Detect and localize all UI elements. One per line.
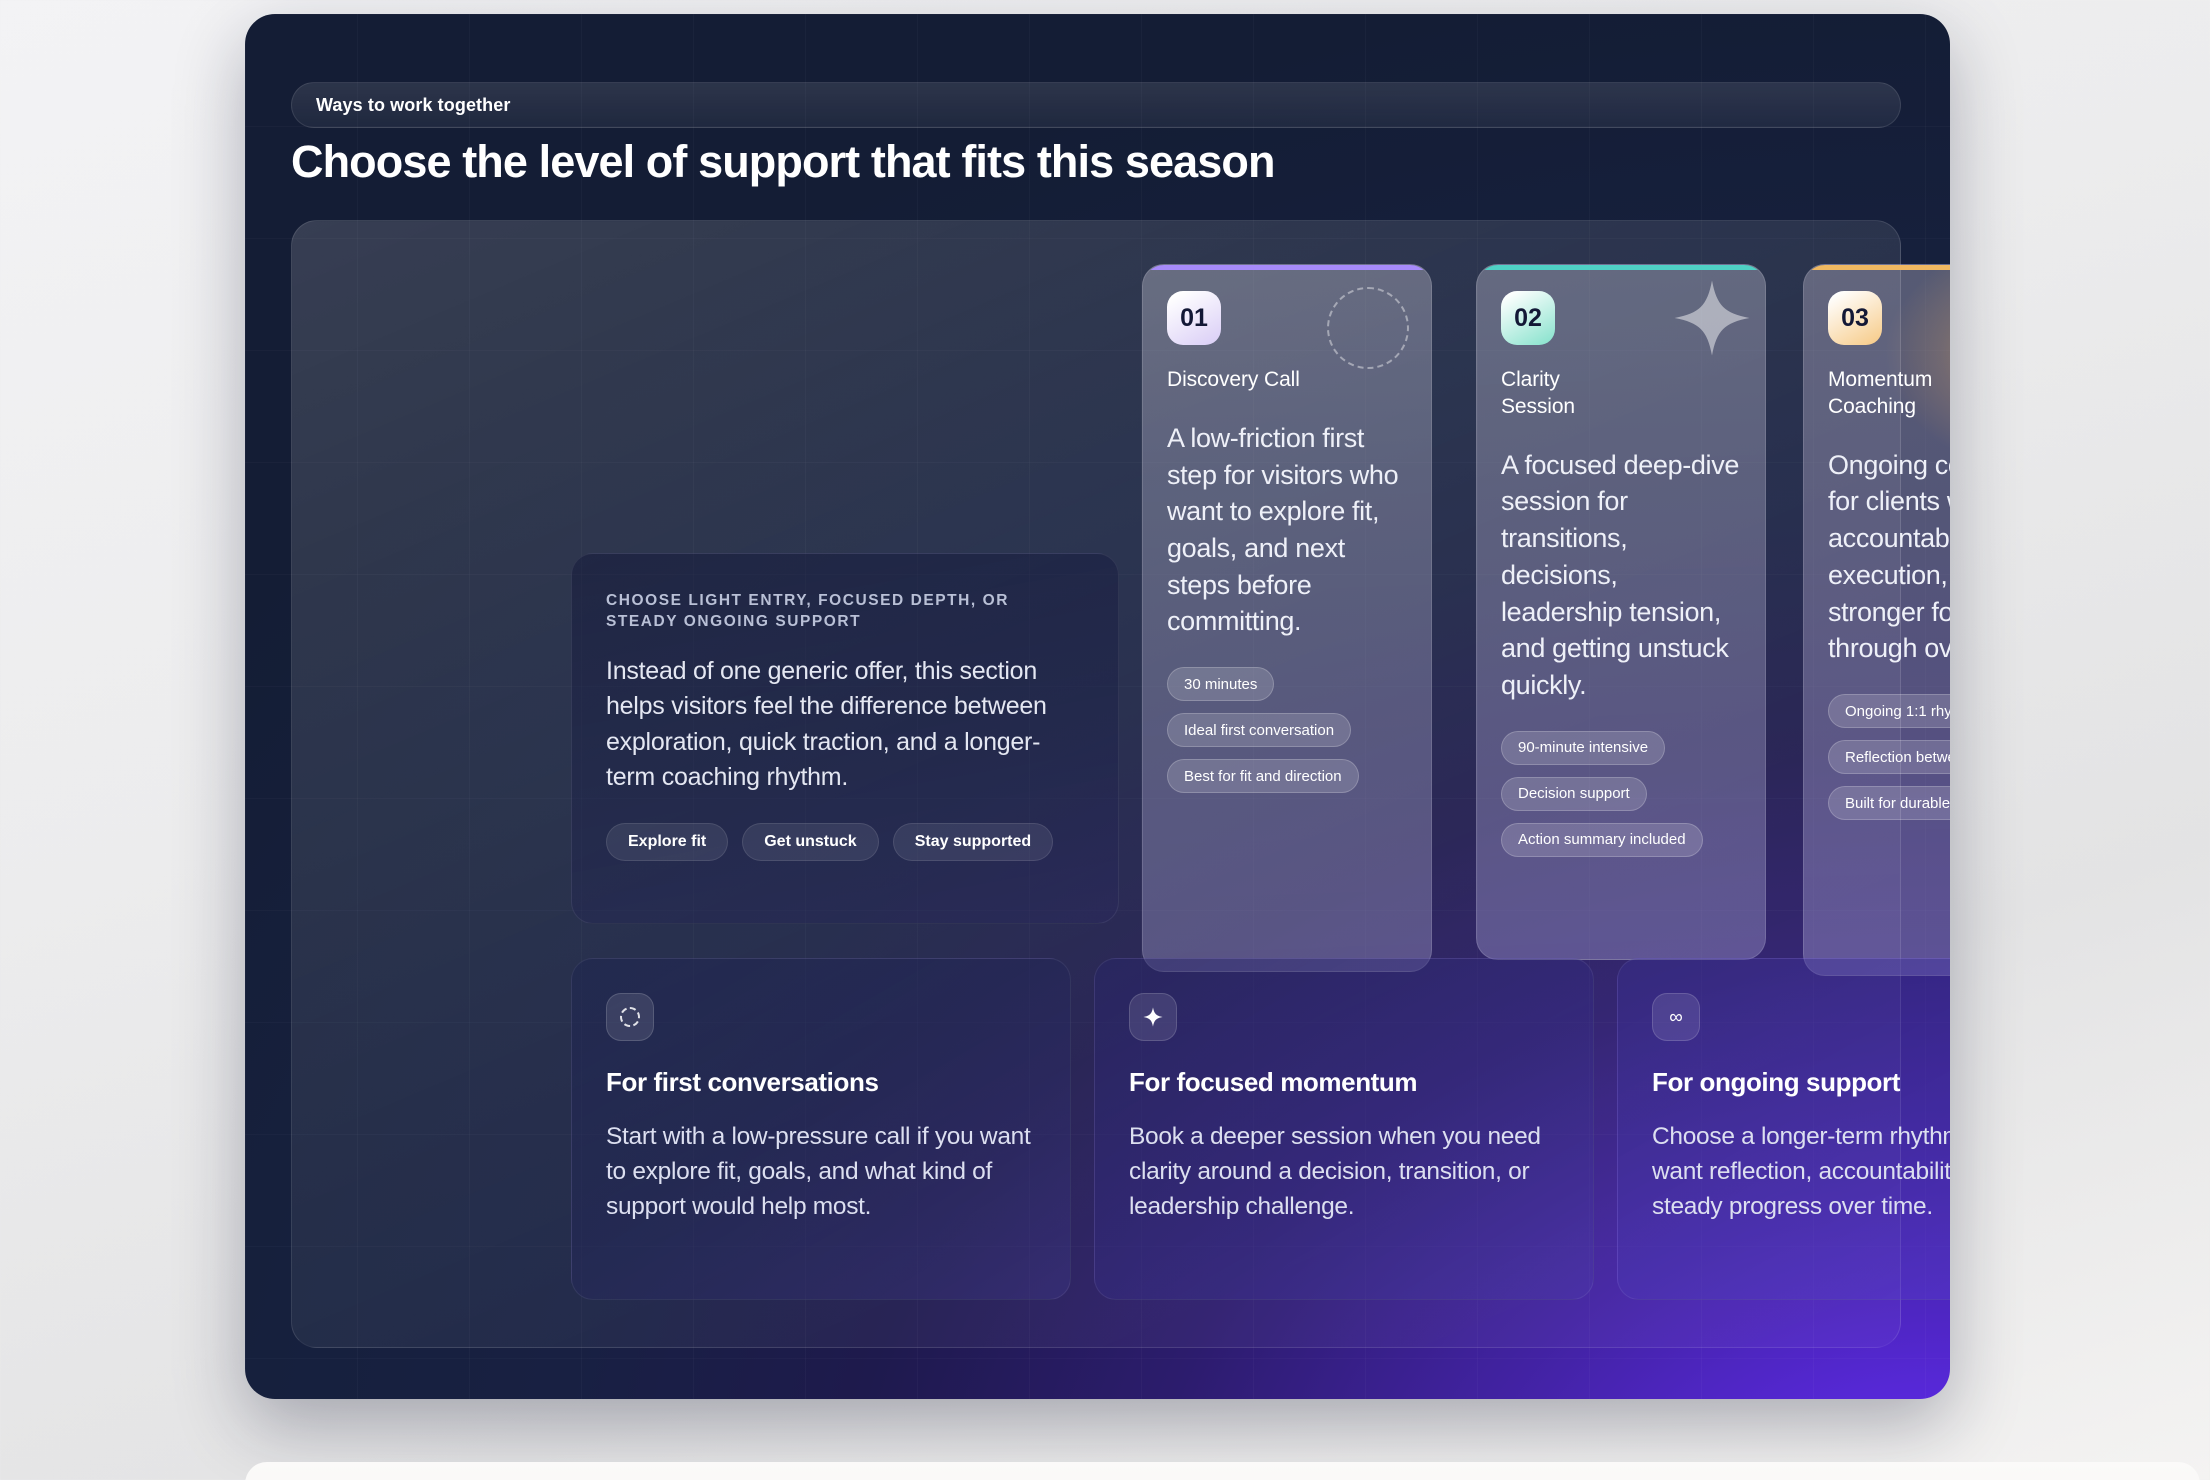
tier-card-momentum-coaching[interactable]: ∞ 03 Momentum Coaching Ongoing coaching … (1803, 264, 1950, 976)
tier-name: Discovery Call (1167, 367, 1407, 394)
tier-chip-group: Ongoing 1:1 rhythm Reflection between se… (1828, 694, 1950, 820)
tier-card-clarity-session[interactable]: 02 Clarity Session A focused deep-dive s… (1476, 264, 1766, 960)
tier-accent-bar (1804, 265, 1950, 270)
tier-chip[interactable]: Ongoing 1:1 rhythm (1828, 694, 1950, 728)
tier-chip-group: 30 minutes Ideal first conversation Best… (1167, 667, 1407, 793)
tier-number-badge: 01 (1167, 291, 1221, 345)
tier-chip[interactable]: Action summary included (1501, 823, 1703, 857)
tier-chip[interactable]: 90-minute intensive (1501, 731, 1665, 765)
tier-description: A low-friction first step for visitors w… (1167, 420, 1407, 640)
tier-accent-bar (1477, 265, 1765, 270)
intro-body: Instead of one generic offer, this secti… (606, 654, 1066, 796)
infinity-icon: ∞ (1669, 1008, 1683, 1027)
guidance-body: Book a deeper session when you need clar… (1129, 1120, 1559, 1224)
tier-chip[interactable]: Reflection between sessions (1828, 740, 1950, 774)
guidance-icon-tile: ∞ (1652, 993, 1700, 1041)
guidance-card-first-conversations: For first conversations Start with a low… (571, 958, 1071, 1300)
tier-description: A focused deep-dive session for transiti… (1501, 447, 1741, 704)
tier-name: Momentum Coaching (1828, 367, 1950, 421)
tier-chip[interactable]: Decision support (1501, 777, 1647, 811)
dashed-circle-icon (620, 1007, 640, 1027)
guidance-body: Choose a longer-term rhythm if you want … (1652, 1120, 1950, 1224)
tier-chip-group: 90-minute intensive Decision support Act… (1501, 731, 1741, 857)
dashed-circle-icon (1327, 287, 1409, 369)
tier-chip[interactable]: Best for fit and direction (1167, 759, 1359, 793)
tier-chip[interactable]: Built for durable progress (1828, 786, 1950, 820)
intro-kicker: CHOOSE LIGHT ENTRY, FOCUSED DEPTH, OR ST… (606, 590, 1058, 633)
intro-chip-group: Explore fit Get unstuck Stay supported (606, 823, 1084, 861)
guidance-body: Start with a low-pressure call if you wa… (606, 1120, 1036, 1224)
tier-description: Ongoing coaching for clients who need ac… (1828, 447, 1950, 667)
eyebrow-pill: Ways to work together (291, 82, 1901, 128)
guidance-title: For ongoing support (1652, 1067, 1950, 1098)
intro-chip-explore-fit[interactable]: Explore fit (606, 823, 728, 861)
guidance-card-ongoing-support: ∞ For ongoing support Choose a longer-te… (1617, 958, 1950, 1300)
tier-number-badge: 02 (1501, 291, 1555, 345)
guidance-title: For first conversations (606, 1067, 1036, 1098)
sparkle-icon (1673, 279, 1751, 357)
intro-chip-get-unstuck[interactable]: Get unstuck (742, 823, 878, 861)
tier-chip[interactable]: 30 minutes (1167, 667, 1274, 701)
section-window: Ways to work together Choose the level o… (245, 14, 1950, 1399)
page-title: Choose the level of support that fits th… (291, 136, 1275, 188)
guidance-card-focused-momentum: For focused momentum Book a deeper sessi… (1094, 958, 1594, 1300)
tier-accent-bar (1143, 265, 1431, 270)
eyebrow-label: Ways to work together (316, 95, 510, 116)
tier-number-badge: 03 (1828, 291, 1882, 345)
tier-chip[interactable]: Ideal first conversation (1167, 713, 1351, 747)
tier-name: Clarity Session (1501, 367, 1741, 421)
next-section-strip (245, 1462, 2200, 1480)
sparkle-icon (1143, 1007, 1163, 1027)
guidance-icon-tile (1129, 993, 1177, 1041)
tier-card-discovery-call[interactable]: 01 Discovery Call A low-friction first s… (1142, 264, 1432, 972)
guidance-title: For focused momentum (1129, 1067, 1559, 1098)
intro-chip-stay-supported[interactable]: Stay supported (893, 823, 1053, 861)
guidance-icon-tile (606, 993, 654, 1041)
intro-card: CHOOSE LIGHT ENTRY, FOCUSED DEPTH, OR ST… (571, 553, 1119, 924)
